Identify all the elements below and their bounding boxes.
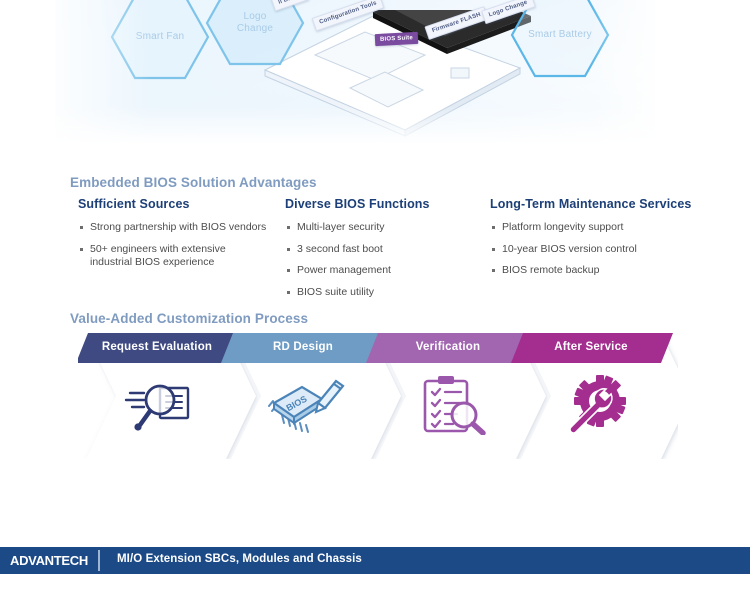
list-item: BIOS remote backup — [490, 264, 700, 278]
list-item: BIOS suite utility — [285, 286, 470, 300]
process-step-label-3: After Service — [526, 341, 656, 353]
advantages-column-sufficient-sources: Sufficient Sources Strong partnership wi… — [78, 197, 268, 278]
advantages-column-long-term-maintenance: Long-Term Maintenance Services Platform … — [490, 197, 700, 286]
customization-process-diagram: Request Evaluation RD Design Verificatio… — [78, 333, 678, 459]
footer-bar — [0, 547, 750, 574]
list-item: 10-year BIOS version control — [490, 243, 700, 257]
magnifier-document-icon — [124, 373, 204, 435]
process-step-label-0: Request Evaluation — [92, 341, 222, 353]
column-heading: Diverse BIOS Functions — [285, 197, 470, 211]
process-step-label-2: Verification — [383, 341, 513, 353]
column-heading: Sufficient Sources — [78, 197, 268, 211]
gear-wrench-icon — [556, 373, 636, 435]
hero-banner: Smart Fan Logo Change Smart Battery ll E… — [0, 0, 750, 158]
bullet-list: Platform longevity support 10-year BIOS … — [490, 221, 700, 278]
footer-divider — [98, 550, 100, 571]
list-item: Platform longevity support — [490, 221, 700, 235]
bullet-list: Multi-layer security 3 second fast boot … — [285, 221, 470, 299]
list-item: Power management — [285, 264, 470, 278]
hexagon-label: Logo Change — [205, 0, 305, 66]
advantages-column-diverse-bios-functions: Diverse BIOS Functions Multi-layer secur… — [285, 197, 470, 307]
advantech-logo: ADVANTECH — [10, 553, 88, 568]
checklist-magnifier-icon — [413, 373, 493, 435]
tag-bios-suite: BIOS Suite — [375, 32, 419, 46]
process-section-title: Value-Added Customization Process — [70, 311, 308, 326]
hero-fade-bottom — [0, 106, 750, 158]
list-item: Strong partnership with BIOS vendors — [78, 221, 268, 235]
list-item: 3 second fast boot — [285, 243, 470, 257]
list-item: 50+ engineers with extensive industrial … — [78, 243, 268, 270]
column-heading: Long-Term Maintenance Services — [490, 197, 700, 211]
hexagon-logo-change: Logo Change — [205, 0, 305, 66]
footer-title: MI/O Extension SBCs, Modules and Chassis — [117, 553, 362, 565]
bullet-list: Strong partnership with BIOS vendors 50+… — [78, 221, 268, 270]
advantages-section-title: Embedded BIOS Solution Advantages — [70, 175, 317, 190]
process-step-label-1: RD Design — [238, 341, 368, 353]
bios-chip-pencil-icon: BIOS — [268, 373, 348, 435]
list-item: Multi-layer security — [285, 221, 470, 235]
